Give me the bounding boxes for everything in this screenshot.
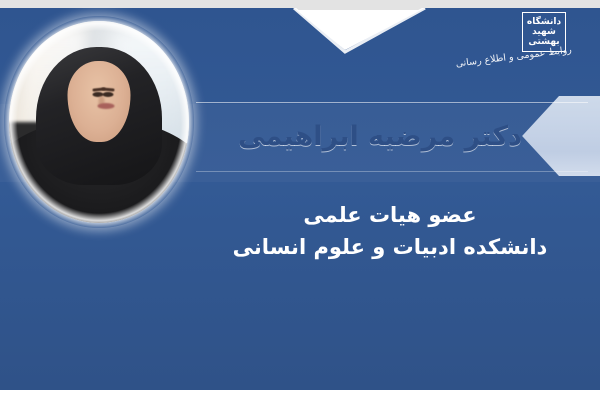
subtitle-faculty: دانشکده ادبیات و علوم انسانی: [190, 232, 590, 264]
avatar: [4, 16, 194, 228]
photo-face: [68, 61, 131, 142]
university-logo: دانشگاه شهید بهشتی روابط عمومی و اطلاع ر…: [480, 10, 572, 82]
logo-line-2: شهید: [532, 27, 556, 37]
photo-lips: [97, 103, 114, 109]
photo-eye-right: [102, 92, 113, 97]
subtitle-block: عضو هیات علمی دانشکده ادبیات و علوم انسا…: [190, 200, 590, 263]
person-name: دکتر مرضیه ابراهیمی: [190, 96, 570, 176]
subtitle-role: عضو هیات علمی: [190, 200, 590, 232]
profile-card: دکتر مرضیه ابراهیمی عضو هیات علمی دانشکد…: [0, 0, 600, 400]
logo-line-1: دانشگاه: [527, 17, 561, 27]
avatar-photo: [9, 21, 189, 223]
